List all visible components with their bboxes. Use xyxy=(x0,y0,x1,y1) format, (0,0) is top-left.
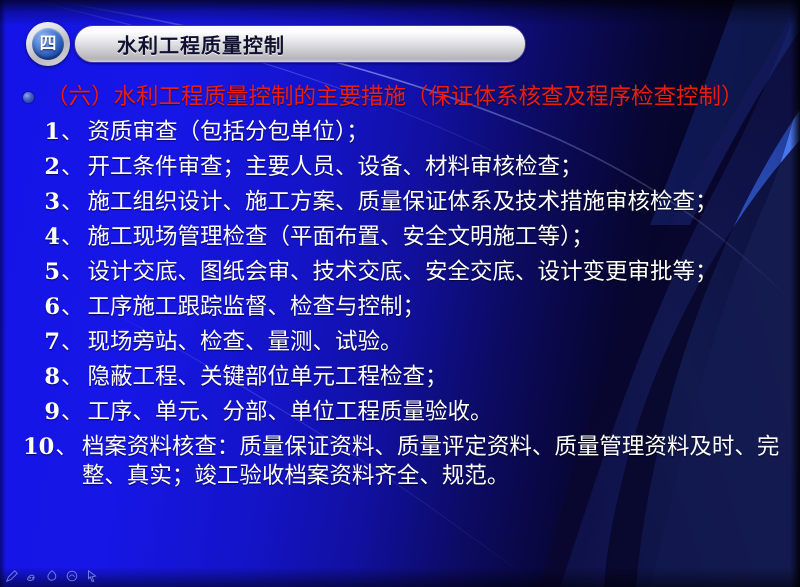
list-item: 5 、 设计交底、图纸会审、技术交底、安全交底、设计变更审批等； xyxy=(18,258,788,288)
section-title-pill: 水利工程质量控制 xyxy=(74,25,526,63)
list-item-number: 8 xyxy=(34,363,60,393)
lead-paragraph: （六）水利工程质量控制的主要措施（保证体系核查及程序检查控制） xyxy=(46,83,788,112)
list-item-separator: 、 xyxy=(60,398,86,428)
list-item: 7 、 现场旁站、检查、量测、试验。 xyxy=(18,328,788,358)
left-edge-shadow xyxy=(0,0,6,587)
list-item-separator: 、 xyxy=(60,118,86,148)
list-item-text: 设计交底、图纸会审、技术交底、安全交底、设计变更审批等； xyxy=(86,258,788,288)
highlighter-icon[interactable] xyxy=(25,569,39,583)
list-item-number: 1 xyxy=(34,118,60,148)
list-item-text: 隐蔽工程、关键部位单元工程检查； xyxy=(86,363,788,393)
list-item-text: 工序、单元、分部、单位工程质量验收。 xyxy=(86,398,788,428)
pointer-icon[interactable] xyxy=(85,569,99,583)
list-item-separator: 、 xyxy=(54,433,80,463)
list-item-separator: 、 xyxy=(60,328,86,358)
eraser-icon[interactable] xyxy=(45,569,59,583)
list-item-separator: 、 xyxy=(60,153,86,183)
list-item-separator: 、 xyxy=(60,293,86,323)
right-edge-shadow xyxy=(790,0,800,587)
measures-list: 1 、 资质审查（包括分包单位）； 2 、 开工条件审查；主要人员、设备、材料审… xyxy=(18,118,788,492)
list-item-number: 9 xyxy=(34,398,60,428)
list-item-text: 施工现场管理检查（平面布置、安全文明施工等）； xyxy=(86,223,788,253)
pen-icon[interactable] xyxy=(5,569,19,583)
slide-header: 水利工程质量控制 四 xyxy=(26,22,526,66)
list-item: 10 、 档案资料核查：质量保证资料、质量评定资料、质量管理资料及时、完整、真实… xyxy=(18,433,788,493)
list-item-separator: 、 xyxy=(60,188,86,218)
bottom-vignette xyxy=(0,567,800,587)
list-item-separator: 、 xyxy=(60,363,86,393)
section-number-badge-inner: 四 xyxy=(32,28,64,60)
list-item: 1 、 资质审查（包括分包单位）； xyxy=(18,118,788,148)
list-item-number: 3 xyxy=(34,188,60,218)
list-item-number: 10 xyxy=(23,433,54,463)
list-item-text: 资质审查（包括分包单位）； xyxy=(86,118,788,148)
list-item-number: 5 xyxy=(34,258,60,288)
bullet-icon xyxy=(23,92,34,103)
list-item: 4 、 施工现场管理检查（平面布置、安全文明施工等）； xyxy=(18,223,788,253)
list-item: 8 、 隐蔽工程、关键部位单元工程检查； xyxy=(18,363,788,393)
section-title-text: 水利工程质量控制 xyxy=(117,30,285,59)
list-item-text: 开工条件审查；主要人员、设备、材料审核检查； xyxy=(86,153,788,183)
list-item-separator: 、 xyxy=(60,258,86,288)
list-item-number: 7 xyxy=(34,328,60,358)
list-item-text: 施工组织设计、施工方案、质量保证体系及技术措施审核检查； xyxy=(86,188,788,218)
list-item-number: 2 xyxy=(34,153,60,183)
list-item-number: 6 xyxy=(34,293,60,323)
list-item: 9 、 工序、单元、分部、单位工程质量验收。 xyxy=(18,398,788,428)
section-number-text: 四 xyxy=(40,36,57,53)
slide-canvas: 水利工程质量控制 四 （六）水利工程质量控制的主要措施（保证体系核查及程序检查控… xyxy=(0,0,800,587)
list-item-text: 档案资料核查：质量保证资料、质量评定资料、质量管理资料及时、完整、真实；竣工验收… xyxy=(80,433,788,493)
list-item: 6 、 工序施工跟踪监督、检查与控制； xyxy=(18,293,788,323)
list-item: 3 、 施工组织设计、施工方案、质量保证体系及技术措施审核检查； xyxy=(18,188,788,218)
list-item: 2 、 开工条件审查；主要人员、设备、材料审核检查； xyxy=(18,153,788,183)
lead-paragraph-row: （六）水利工程质量控制的主要措施（保证体系核查及程序检查控制） xyxy=(18,83,788,112)
annotation-toolbar[interactable] xyxy=(5,569,99,583)
list-item-text: 现场旁站、检查、量测、试验。 xyxy=(86,328,788,358)
list-item-number: 4 xyxy=(34,223,60,253)
ink-color-icon[interactable] xyxy=(65,569,79,583)
list-item-text: 工序施工跟踪监督、检查与控制； xyxy=(86,293,788,323)
section-number-badge: 四 xyxy=(26,22,70,66)
slide-body: （六）水利工程质量控制的主要措施（保证体系核查及程序检查控制） 1 、 资质审查… xyxy=(18,83,788,497)
list-item-separator: 、 xyxy=(60,223,86,253)
